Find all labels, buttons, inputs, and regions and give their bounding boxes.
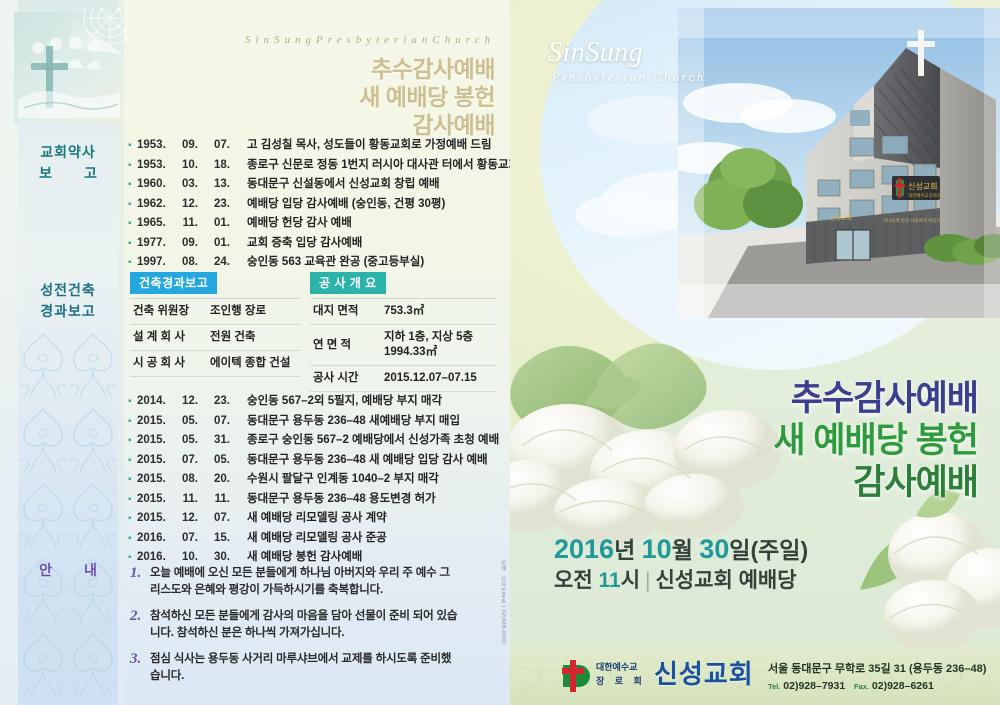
history-year: 2016. [137,529,170,549]
history-text: 동대문구 용두동 236–48 용도변경 허가 [230,490,436,510]
history-year: 2015. [137,431,170,451]
church-name-wordmark: 신성교회 [654,657,754,691]
history-text: 동대문구 용두동 236–48 새 예배당 입당 감사 예배 [230,451,488,471]
history-day: 13. [198,175,230,195]
history-list-recent: ▪2014.12.23.숭인동 567–2외 5필지, 예배당 부지 매각▪20… [128,392,503,568]
bullet-icon: ▪ [128,431,137,451]
table-cell-value: 조인행 장로 [202,299,300,325]
history-year: 1953. [137,156,170,176]
table-construction-report-header: 건축경과보고 [130,272,217,294]
bullet-icon: ▪ [128,156,137,176]
history-row: ▪2015.08.20.수원시 팔달구 인계동 1040–2 부지 매각 [128,470,503,490]
history-row: ▪1953.09.07.고 김성칠 목사, 성도들이 황동교회로 가정예배 드림 [128,136,503,156]
history-row: ▪1977.09.01.교회 증축 입당 감사예배 [128,234,503,254]
history-month: 05. [170,431,198,451]
notice-list: 1.오늘 예배에 오신 모든 분들에게 하나님 아버지와 우리 주 예수 그리스… [130,565,460,694]
bullet-icon: ▪ [128,214,137,234]
notice-text: 오늘 예배에 오신 모든 분들에게 하나님 아버지와 우리 주 예수 그리스도와… [150,565,460,599]
table-construction-report: 건축경과보고 건축 위원장조인행 장로설 계 회 사전원 건축시 공 회 사에이… [130,272,300,377]
table-work-summary-header: 공 사 개 요 [310,272,386,294]
history-text: 예배당 헌당 감사 예배 [230,214,352,234]
bullet-icon: ▪ [128,490,137,510]
notice-number: 3. [130,651,150,685]
history-year: 2014. [137,392,170,412]
history-year: 1965. [137,214,170,234]
denomination-line-2: 장 로 회 [596,674,646,688]
bullet-icon: ▪ [128,412,137,432]
damask-pattern-watermark [18,330,118,705]
notice-item: 3.점심 식사는 용두동 사거리 마루샤브에서 교제를 하시도록 준비했습니다. [130,651,460,685]
main-event-title: 추수감사예배 새 예배당 봉헌 감사예배 [558,378,978,504]
history-month: 12. [170,195,198,215]
event-hour-suffix: 시 [621,569,640,592]
history-day: 24. [198,253,230,273]
history-year: 1953. [137,136,170,156]
svg-text:신성교회: 신성교회 [830,214,852,222]
table-cell-key: 건축 위원장 [130,299,202,325]
history-day: 15. [198,529,230,549]
history-text: 숭인동 563 교육관 완공 (중고등부실) [230,253,424,273]
bullet-icon: ▪ [128,175,137,195]
table-cell-value: 전원 건축 [202,325,300,351]
right-script-wordmark: SinSung Presbyterian Church [548,38,758,86]
sidebar-label-history: 교회약사 보 고 [18,142,118,184]
bullet-icon: ▪ [128,451,137,471]
history-day: 31. [198,431,230,451]
main-title-line-1: 추수감사예배 [558,378,978,420]
history-year: 1960. [137,175,170,195]
event-venue: 신성교회 예배당 [655,569,796,592]
bullet-icon: ▪ [128,136,137,156]
bullet-icon: ▪ [128,195,137,215]
sidebar-label-construction: 성전건축 경과보고 [18,280,118,322]
tel-number: 02)928–7931 [783,680,845,692]
brochure-page: SinSungPresbyterianChurch 추수감사예배 새 예배당 봉… [0,0,1000,705]
fax-number: 02)928–6261 [872,680,934,692]
event-separator: | [640,569,655,592]
history-text: 새 예배당 리모델링 공사 계약 [230,509,387,529]
history-day: 01. [198,214,230,234]
church-phone-line: Tel. 02)928–7931 Fax. 02)928–6261 [768,678,998,695]
left-event-title: 추수감사예배 새 예배당 봉헌 감사예배 [160,55,495,139]
history-text: 수원시 팔달구 인계동 1040–2 부지 매각 [230,470,439,490]
notice-text: 점심 식사는 용두동 사거리 마루샤브에서 교제를 하시도록 준비했습니다. [150,651,460,685]
history-row: ▪2015.05.07.동대문구 용두동 236–48 새예배당 부지 매입 [128,412,503,432]
history-row: ▪1962.12.23.예배당 입당 감사예배 (숭인동, 건평 30평) [128,195,503,215]
left-panel: SinSungPresbyterianChurch 추수감사예배 새 예배당 봉… [0,0,510,705]
print-credit: 인쇄 : 디자인루트 | 02)928-0000 [492,560,506,680]
denomination-name: 대한예수교 장 로 회 [596,660,646,688]
history-text: 고 김성칠 목사, 성도들이 황동교회로 가정예배 드림 [230,136,492,156]
table-row: 건축 위원장조인행 장로 [130,299,300,325]
bullet-icon: ▪ [128,234,137,254]
event-day: 30 [699,534,729,564]
fax-label: Fax. [854,682,869,691]
table-work-summary: 공 사 개 요 대지 면적753.3㎡연 면 적지하 1층, 지상 5층1994… [310,272,496,392]
table-row: 대지 면적753.3㎡ [310,299,496,325]
table-row: 시 공 회 사에이텍 종합 건설 [130,351,300,377]
history-month: 09. [170,136,198,156]
history-text: 새 예배당 리모델링 공사 준공 [230,529,387,549]
notice-text: 참석하신 모든 분들에게 감사의 마음을 담아 선물이 준비 되어 있습니다. … [150,608,460,642]
table-row: 설 계 회 사전원 건축 [130,325,300,351]
table-cell-key: 대지 면적 [310,299,376,325]
history-year: 2015. [137,470,170,490]
sidebar-label-construction-line1: 성전건축 [18,280,118,301]
history-day: 23. [198,195,230,215]
history-row: ▪2014.12.23.숭인동 567–2외 5필지, 예배당 부지 매각 [128,392,503,412]
notice-number: 2. [130,608,150,642]
history-year: 1997. [137,253,170,273]
table-cell-key: 공사 시간 [310,366,376,392]
history-day: 07. [198,509,230,529]
event-ampm: 오전 [554,569,593,592]
event-weekday: (주일) [750,537,808,563]
footer-bar: 대한예수교 장 로 회 신성교회 서울 동대문구 무학로 35길 31 (용두동… [510,647,1000,705]
history-day: 01. [198,234,230,254]
sidebar-label-history-line1: 교회약사 [18,142,118,163]
history-year: 2015. [137,490,170,510]
svg-text:하나님께 영광 사람에게 복음으로: 하나님께 영광 사람에게 복음으로 [883,217,945,224]
table-cell-key: 시 공 회 사 [130,351,202,377]
event-date-line: 2016년 10월 30일(주일) [554,533,954,566]
history-text: 교회 증축 입당 감사예배 [230,234,362,254]
right-script-line-2: Presbyterian Church [548,68,758,86]
table-cell-value: 에이텍 종합 건설 [202,351,300,377]
svg-text:신성교회: 신성교회 [908,182,937,191]
history-month: 11. [170,214,198,234]
history-month: 12. [170,509,198,529]
sidebar-label-history-line2: 보 고 [18,163,118,184]
history-month: 11. [170,490,198,510]
history-month: 05. [170,412,198,432]
history-row: ▪1965.11.01.예배당 헌당 감사 예배 [128,214,503,234]
history-row: ▪2015.05.31.종로구 숭인동 567–2 예배당에서 신성가족 초청 … [128,431,503,451]
bullet-icon: ▪ [128,253,137,273]
history-row: ▪2015.07.05.동대문구 용두동 236–48 새 예배당 입당 감사 … [128,451,503,471]
history-year: 2015. [137,412,170,432]
left-title-line-3: 감사예배 [160,111,495,139]
bullet-icon: ▪ [128,392,137,412]
notice-item: 2.참석하신 모든 분들에게 감사의 마음을 담아 선물이 준비 되어 있습니다… [130,608,460,642]
table-cell-key: 설 계 회 사 [130,325,202,351]
bullet-icon: ▪ [128,529,137,549]
history-month: 09. [170,234,198,254]
event-month-suffix: 월 [672,537,693,563]
history-month: 07. [170,529,198,549]
sidebar-label-notice-line1: 안 내 [18,560,118,581]
main-title-line-3: 감사예배 [558,462,978,504]
bullet-icon: ▪ [128,470,137,490]
sidebar-label-notice: 안 내 [18,560,118,581]
notice-number: 1. [130,565,150,599]
table-row: 연 면 적지하 1층, 지상 5층1994.33㎡ [310,325,496,366]
history-month: 03. [170,175,198,195]
history-row: ▪2015.11.11.동대문구 용두동 236–48 용도변경 허가 [128,490,503,510]
history-text: 동대문구 신설동에서 신성교회 창립 예배 [230,175,440,195]
right-script-line-1: SinSung [548,38,758,68]
denomination-line-1: 대한예수교 [596,660,646,674]
church-emblem-icon [10,8,128,128]
history-text: 종로구 숭인동 567–2 예배당에서 신성가족 초청 예배 [230,431,499,451]
history-year: 1977. [137,234,170,254]
event-time-line: 오전 11시|신성교회 예배당 [554,566,954,596]
church-address: 서울 동대문구 무학로 35길 31 (용두동 236–48) [768,661,998,678]
history-year: 2015. [137,509,170,529]
history-month: 10. [170,156,198,176]
event-day-suffix: 일 [729,537,750,563]
right-panel: 신성교회 대한예수교장로회 신성교회 하나님께 영광 사람에게 복음으로 [510,0,1000,705]
history-year: 2015. [137,451,170,471]
event-year-suffix: 년 [614,537,635,563]
bullet-icon: ▪ [128,509,137,529]
history-text: 숭인동 567–2외 5필지, 예배당 부지 매각 [230,392,442,412]
main-title-line-2: 새 예배당 봉헌 [558,420,978,462]
event-hour: 11 [598,569,620,592]
table-cell-key: 연 면 적 [310,325,376,366]
table-cell-value: 2015.12.07–07.15 [376,366,496,392]
history-day: 20. [198,470,230,490]
history-year: 1962. [137,195,170,215]
history-row: ▪2015.12.07.새 예배당 리모델링 공사 계약 [128,509,503,529]
table-cell-value: 지하 1층, 지상 5층1994.33㎡ [376,325,496,366]
history-day: 07. [198,136,230,156]
left-title-line-1: 추수감사예배 [160,55,495,83]
history-day: 23. [198,392,230,412]
svg-text:대한예수교장로회: 대한예수교장로회 [908,192,941,199]
event-year: 2016 [554,534,614,564]
history-row: ▪2016.07.15.새 예배당 리모델링 공사 준공 [128,529,503,549]
left-title-line-2: 새 예배당 봉헌 [160,83,495,111]
sidebar-label-construction-line2: 경과보고 [18,301,118,322]
history-text: 종로구 신문로 정동 1번지 러시아 대사관 터에서 황동교회 창립 [230,156,510,176]
history-month: 08. [170,470,198,490]
history-day: 05. [198,451,230,471]
history-month: 12. [170,392,198,412]
church-logo-icon [558,659,592,693]
table-cell-value: 753.3㎡ [376,299,496,325]
history-day: 07. [198,412,230,432]
history-list-early: ▪1953.09.07.고 김성칠 목사, 성도들이 황동교회로 가정예배 드림… [128,136,503,273]
notice-item: 1.오늘 예배에 오신 모든 분들에게 하나님 아버지와 우리 주 예수 그리스… [130,565,460,599]
event-month: 10 [642,534,672,564]
history-month: 08. [170,253,198,273]
history-row: ▪1960.03.13.동대문구 신설동에서 신성교회 창립 예배 [128,175,503,195]
tel-label: Tel. [768,682,780,691]
history-row: ▪1997.08.24.숭인동 563 교육관 완공 (중고등부실) [128,253,503,273]
history-month: 07. [170,451,198,471]
table-row: 공사 시간2015.12.07–07.15 [310,366,496,392]
left-script-wordmark: SinSungPresbyterianChurch [140,34,495,46]
contact-info: 서울 동대문구 무학로 35길 31 (용두동 236–48) Tel. 02)… [768,661,998,695]
history-text: 동대문구 용두동 236–48 새예배당 부지 매입 [230,412,460,432]
history-day: 18. [198,156,230,176]
history-text: 예배당 입당 감사예배 (숭인동, 건평 30평) [230,195,445,215]
history-day: 11. [198,490,230,510]
event-datetime-block: 2016년 10월 30일(주일) 오전 11시|신성교회 예배당 [554,533,954,596]
history-row: ▪1953.10.18.종로구 신문로 정동 1번지 러시아 대사관 터에서 황… [128,156,503,176]
